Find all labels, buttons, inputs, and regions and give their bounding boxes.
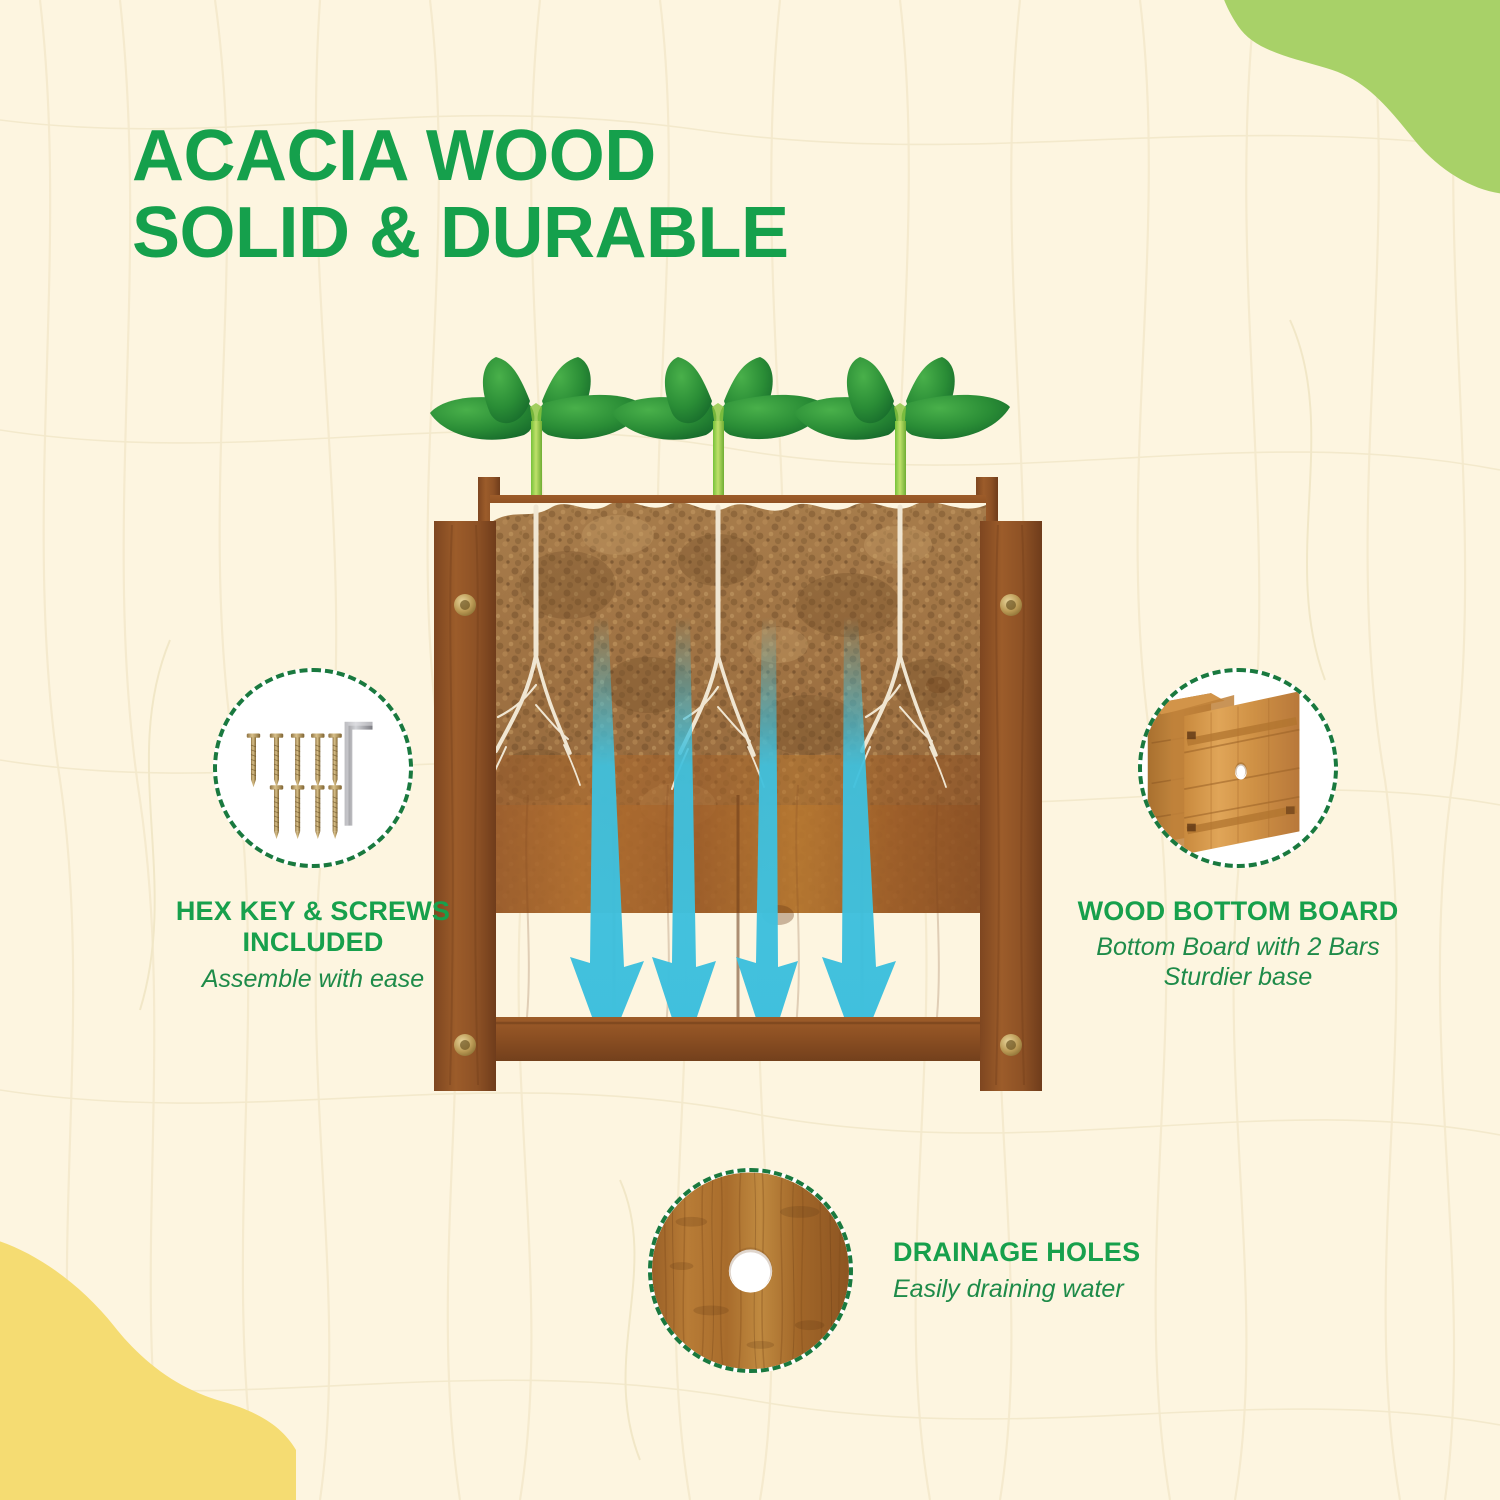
title-line-2: SOLID & DURABLE <box>132 195 1032 272</box>
drainage-hole-icon <box>648 1168 853 1373</box>
bottom-board-panel <box>1184 691 1299 854</box>
feature-hex-key-screws: HEX KEY & SCREWS INCLUDED Assemble with … <box>118 668 508 994</box>
feature-text-block: HEX KEY & SCREWS INCLUDED Assemble with … <box>118 896 508 994</box>
infographic-canvas: ACACIA WOOD SOLID & DURABLE <box>0 0 1500 1500</box>
screws-and-hex-key-icon <box>213 668 413 868</box>
feature-text-block: DRAINAGE HOLES Easily draining water <box>893 1237 1140 1303</box>
feature-subtitle: Bottom Board with 2 Bars Sturdier base <box>1038 932 1438 992</box>
feature-wood-bottom-board: WOOD BOTTOM BOARD Bottom Board with 2 Ba… <box>1038 668 1438 992</box>
wood-bottom-board-icon <box>1138 668 1338 868</box>
page-title: ACACIA WOOD SOLID & DURABLE <box>132 118 1032 272</box>
feature-title: WOOD BOTTOM BOARD <box>1038 896 1438 927</box>
feature-drainage-holes: DRAINAGE HOLES Easily draining water <box>648 1168 1208 1373</box>
planter-bottom-rail <box>490 1017 986 1061</box>
screw-top-left <box>454 594 476 616</box>
feature-text-block: WOOD BOTTOM BOARD Bottom Board with 2 Ba… <box>1038 896 1438 992</box>
title-line-1: ACACIA WOOD <box>132 116 656 196</box>
decorative-blob-green-top-right <box>1176 0 1500 194</box>
seedling-group <box>430 357 1010 507</box>
feature-subtitle: Easily draining water <box>893 1274 1140 1304</box>
screw-bottom-left <box>454 1034 476 1056</box>
hex-key-icon <box>345 722 373 826</box>
feature-subtitle: Assemble with ease <box>118 964 508 994</box>
screw-top-right <box>1000 594 1022 616</box>
planter-illustration <box>418 355 1058 1125</box>
feature-title: DRAINAGE HOLES <box>893 1237 1140 1268</box>
decorative-blob-yellow-bottom-left <box>0 1204 296 1500</box>
screw-bottom-right <box>1000 1034 1022 1056</box>
seedling-2 <box>612 357 828 507</box>
seedling-1 <box>430 357 646 507</box>
feature-title: HEX KEY & SCREWS INCLUDED <box>118 896 508 959</box>
